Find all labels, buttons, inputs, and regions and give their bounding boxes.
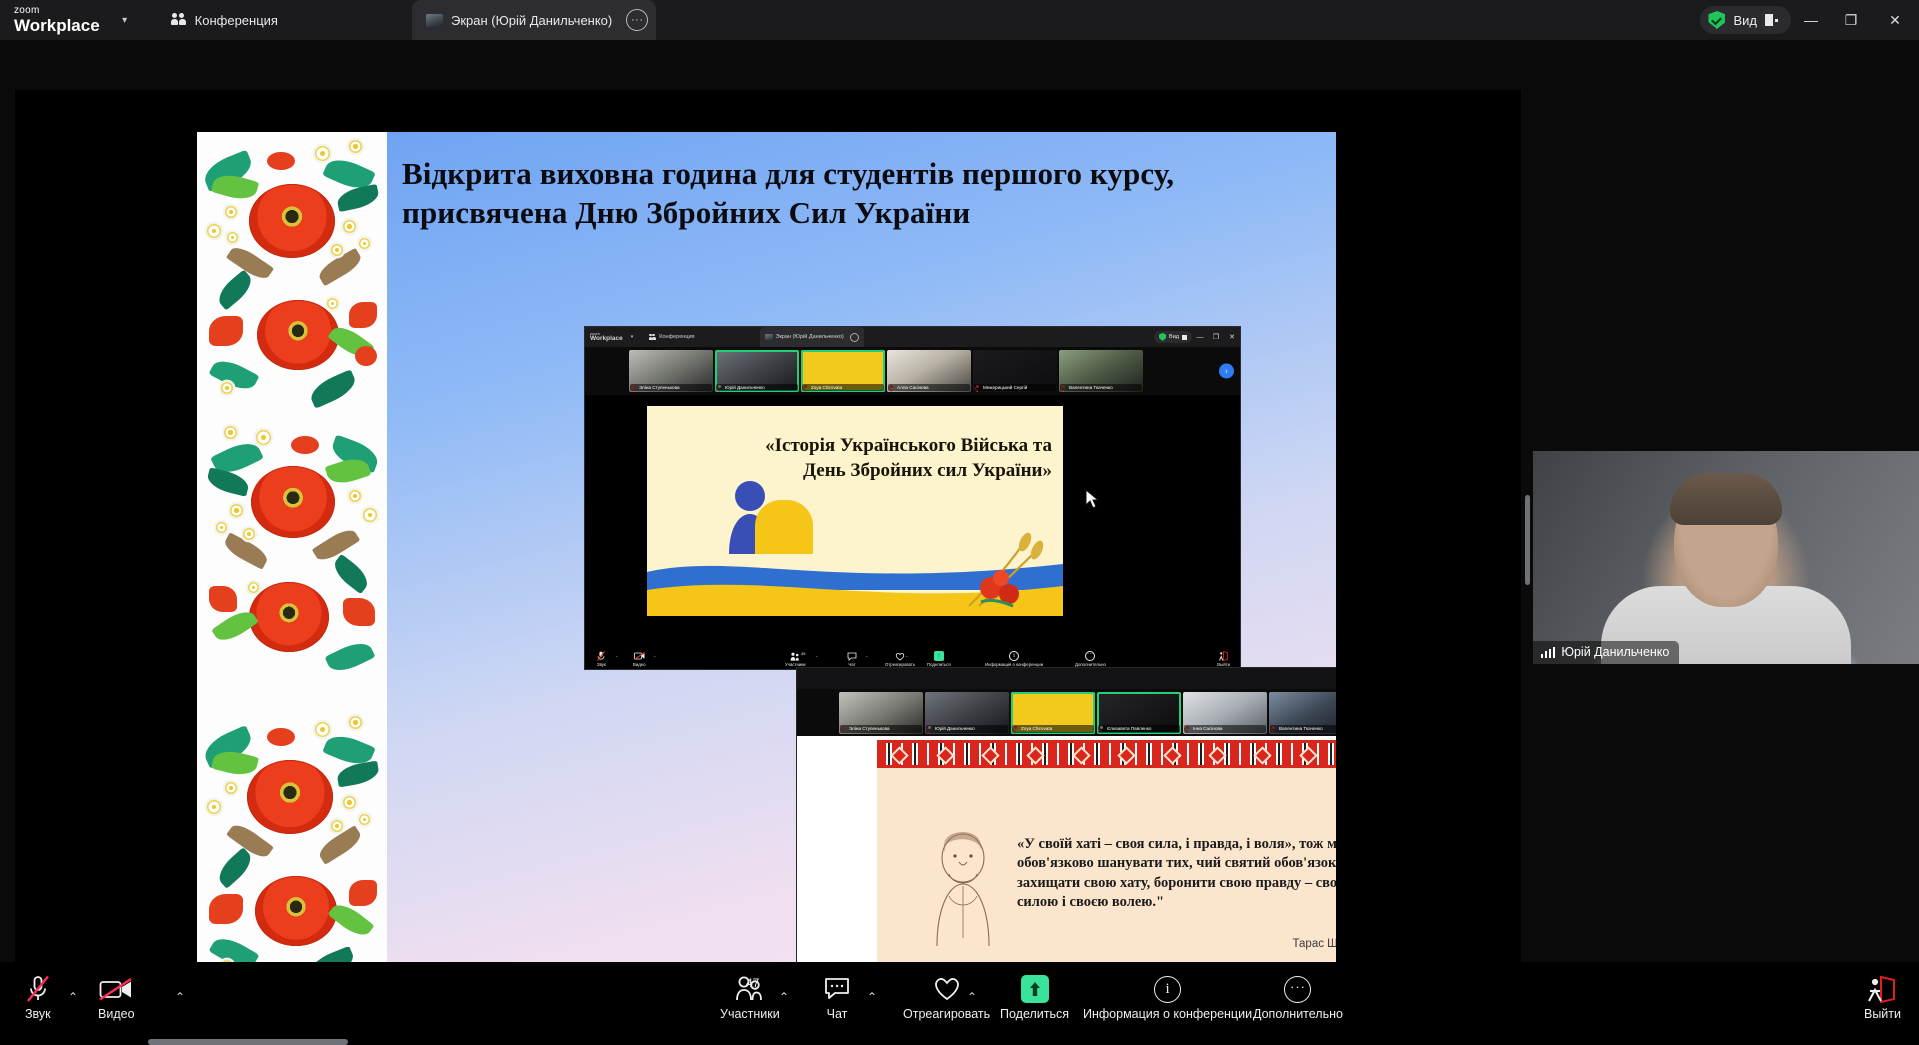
nested1-react-button[interactable]: Отреагировать: [885, 651, 915, 669]
participant-tile[interactable]: Юрій Данильченко: [715, 350, 799, 392]
nested1-audio-caret-icon[interactable]: ⌃: [615, 655, 618, 660]
crowd-silhouette: [755, 500, 813, 554]
chat-bubble-icon: [823, 974, 851, 1004]
share-screen-icon: ↑: [934, 651, 944, 661]
nested1-tab-overflow-icon[interactable]: [850, 333, 859, 342]
nested1-restore-button[interactable]: ❐: [1208, 327, 1224, 347]
shared-slide: Відкрита виховна година для студентів пе…: [197, 132, 1336, 1032]
tab-conference[interactable]: Конференция: [156, 0, 292, 40]
nested1-participants-count: 45: [801, 651, 805, 656]
chevron-down-icon[interactable]: ▾: [112, 7, 138, 33]
react-button[interactable]: Отреагировать: [903, 974, 990, 1021]
video-caret-icon[interactable]: ⌃: [175, 990, 185, 1004]
info-icon: i: [1009, 651, 1019, 661]
app-title-bar: zoom Workplace ▾ Конференция Экран (Юрій…: [0, 0, 1919, 40]
info-icon: i: [1154, 974, 1181, 1004]
participant-name: Юрій Данильченко: [716, 384, 798, 392]
nested1-meeting-info-label: Информация о конференции: [985, 663, 1043, 667]
participant-name: Алла Сасінова: [888, 384, 970, 392]
nested1-chat-caret-icon[interactable]: ⌃: [865, 655, 868, 660]
participant-name: Юрій Данильченко: [926, 725, 1008, 733]
nested1-view-button[interactable]: Вид: [1154, 331, 1192, 343]
nested1-view-label: Вид: [1169, 334, 1179, 340]
nested1-leave-label: Выйти: [1217, 663, 1230, 667]
taras-shevchenko-portrait: [919, 828, 1005, 948]
layout-icon: [1182, 335, 1187, 340]
nested1-tab-conference-label: Конференция: [659, 334, 694, 340]
nested1-share-button[interactable]: ↑ Поделиться: [927, 651, 951, 669]
nested1-video-button[interactable]: Видео: [633, 651, 646, 669]
poppies-and-wheat: [961, 532, 1057, 610]
heart-icon: [895, 651, 905, 661]
audio-caret-icon[interactable]: ⌃: [68, 990, 78, 1004]
participant-tile[interactable]: Юрій Данильченко: [925, 692, 1009, 734]
people-icon: [790, 651, 800, 661]
hair: [1670, 473, 1782, 525]
react-caret-icon[interactable]: ⌃: [967, 990, 977, 1004]
tab-conference-label: Конференция: [195, 13, 278, 28]
nested1-participant-filmstrip[interactable]: Эліна Ступенькова Юрій Данильченко Zoya …: [585, 347, 1240, 395]
participant-name: Эліна Ступенькова: [840, 725, 922, 733]
mouse-cursor: [1085, 489, 1099, 509]
nested1-video-label: Видео: [633, 663, 646, 667]
participant-tile[interactable]: Межерицький Сергій: [973, 350, 1057, 392]
nested1-audio-label: Звук: [597, 663, 606, 667]
nested1-minimize-button[interactable]: —: [1192, 327, 1208, 347]
more-dots-icon: ···: [1085, 651, 1095, 661]
shield-check-icon: [1708, 11, 1725, 29]
nested1-tab-screen-label: Экран (Юрій Данильченко): [776, 334, 844, 340]
nested1-react-caret-icon[interactable]: ⌃: [905, 655, 908, 660]
nested1-shared-content: «Історія Українського Війська та День Зб…: [585, 395, 1240, 647]
self-view-video-feed: [1533, 451, 1919, 664]
nested1-audio-button[interactable]: Звук: [597, 651, 606, 669]
logo-small-text: zoom: [14, 6, 100, 16]
participants-label: Участники: [720, 1007, 780, 1021]
nested1-meeting-toolbar[interactable]: Звук ⌃ Видео ⌃ Участники: [585, 647, 1240, 669]
meeting-stage: Відкрита виховна година для студентів пе…: [0, 40, 1919, 962]
leave-label: Выйти: [1864, 1007, 1901, 1021]
nested1-window-controls: Вид — ❐ ✕: [1154, 327, 1240, 347]
nested1-video-caret-icon[interactable]: ⌃: [653, 655, 656, 660]
restore-button[interactable]: ❐: [1831, 0, 1871, 40]
floral-motif: [197, 132, 387, 418]
audio-label: Звук: [25, 1007, 51, 1021]
video-button[interactable]: Видео: [98, 974, 135, 1021]
chat-label: Чат: [827, 1007, 848, 1021]
petrykivka-floral-border: [197, 132, 387, 1032]
more-dots-icon: ···: [1284, 974, 1311, 1004]
more-button[interactable]: ··· Дополнительно: [1253, 974, 1343, 1021]
minimize-button[interactable]: —: [1791, 0, 1831, 40]
nested1-participants-label: Участники: [785, 663, 806, 667]
chat-caret-icon[interactable]: ⌃: [867, 990, 877, 1004]
participant-name: Інна Сасінова: [1184, 725, 1266, 733]
tab-screen-share[interactable]: Экран (Юрій Данильченко) ···: [412, 0, 656, 40]
nested1-chat-button[interactable]: Чат: [847, 651, 857, 669]
participant-name: Эліна Ступенькова: [630, 384, 712, 392]
participants-caret-icon[interactable]: ⌃: [779, 990, 789, 1004]
participant-tile[interactable]: Zoya Chirovata: [801, 350, 885, 392]
participant-tile[interactable]: Валентина Ткаченко: [1059, 350, 1143, 392]
participant-name: Єлизавета Павленко: [1098, 725, 1180, 733]
meeting-controls-toolbar[interactable]: Звук ⌃ Видео ⌃ Участники 47 ⌃: [0, 962, 1919, 1045]
people-icon: [170, 13, 187, 27]
participants-button[interactable]: Участники 47: [720, 974, 780, 1021]
participant-tile[interactable]: Zoya Chirovata: [1011, 692, 1095, 734]
nested1-more-label: Дополнительно: [1075, 663, 1106, 667]
nested1-more-button[interactable]: ··· Дополнительно: [1075, 651, 1106, 669]
audio-bars-icon: [1541, 647, 1555, 658]
filmstrip-next-icon[interactable]: ›: [1219, 364, 1234, 379]
nested1-participants-caret-icon[interactable]: ⌃: [815, 655, 818, 660]
meeting-info-label: Информация о конференции: [1083, 1007, 1252, 1021]
nested1-tab-conference[interactable]: Конференция: [643, 327, 699, 347]
nested1-tab-screen[interactable]: Экран (Юрій Данильченко): [760, 327, 864, 347]
participant-tile[interactable]: Эліна Ступенькова: [629, 350, 713, 392]
nested1-share-label: Поделиться: [927, 663, 951, 667]
tab-screen-share-label: Экран (Юрій Данильченко): [451, 13, 612, 28]
video-label: Видео: [98, 1007, 135, 1021]
chat-bubble-icon: [847, 651, 857, 661]
chat-button[interactable]: Чат: [823, 974, 851, 1021]
react-label: Отреагировать: [903, 1007, 990, 1021]
participant-name: Zoya Chirovata: [802, 384, 884, 392]
nested1-inner-slide: «Історія Українського Війська та День Зб…: [647, 406, 1063, 616]
nested1-logo: zoom Workplace: [590, 332, 623, 343]
floral-motif: [197, 418, 387, 704]
tab-overflow-icon[interactable]: ···: [626, 9, 648, 31]
nested1-react-label: Отреагировать: [885, 663, 915, 667]
floral-motif: [197, 704, 387, 990]
more-label: Дополнительно: [1253, 1007, 1343, 1021]
shared-content-scrollbar[interactable]: [1525, 495, 1530, 585]
participants-count: 47: [746, 976, 759, 990]
share-button[interactable]: Поделиться: [1000, 974, 1069, 1021]
nested1-title-bar: zoom Workplace ▾ Конференция Экран (Юрій…: [585, 327, 1240, 347]
mic-muted-icon: [597, 651, 605, 661]
participant-tile[interactable]: Єлизавета Павленко: [1097, 692, 1181, 734]
self-view-name-badge: Юрій Данильченко: [1533, 641, 1679, 664]
close-button[interactable]: ✕: [1871, 0, 1919, 40]
participant-tile[interactable]: Эліна Ступенькова: [839, 692, 923, 734]
horizontal-scrollbar[interactable]: [148, 1039, 348, 1045]
diamond-row-top: [877, 744, 1336, 766]
nested1-logo-big: Workplace: [590, 336, 623, 343]
mic-muted-icon: [26, 974, 50, 1004]
nested-zoom-window-1[interactable]: zoom Workplace ▾ Конференция Экран (Юрій…: [585, 327, 1240, 669]
self-view-name: Юрій Данильченко: [1561, 645, 1669, 659]
nested1-close-button[interactable]: ✕: [1224, 327, 1240, 347]
logo-big-text: Workplace: [14, 17, 100, 34]
nested2-title-bar: — ❐ ✕: [797, 668, 1336, 689]
participant-tile[interactable]: Алла Сасінова: [887, 350, 971, 392]
participant-name: Межерицький Сергій: [974, 384, 1056, 392]
nested1-chat-label: Чат: [848, 663, 855, 667]
leave-button[interactable]: Выйти: [1864, 974, 1901, 1021]
share-screen-icon: [1021, 974, 1049, 1004]
slide-title: Відкрита виховна година для студентів пе…: [402, 154, 1272, 233]
zoom-workplace-logo: zoom Workplace: [14, 6, 100, 34]
quote-text: «У своїй хаті – своя сила, і правда, і в…: [1017, 835, 1336, 913]
video-muted-icon: [634, 651, 645, 661]
screen-thumb-icon: [426, 14, 443, 27]
title-bar-right-controls: Вид — ❐ ✕: [1700, 0, 1919, 40]
self-view-video-tile[interactable]: Юрій Данильченко: [1533, 451, 1919, 664]
participant-name: Zoya Chirovata: [1012, 725, 1094, 733]
view-button-label: Вид: [1733, 13, 1757, 28]
view-button[interactable]: Вид: [1700, 6, 1791, 34]
nested1-leave-button[interactable]: Выйти: [1217, 651, 1230, 669]
layout-icon: [1765, 14, 1779, 26]
participant-name: Валентина Ткаченко: [1270, 725, 1336, 733]
leave-door-icon: [1219, 651, 1228, 661]
audio-button[interactable]: Звук: [25, 974, 51, 1021]
participant-name: Валентина Ткаченко: [1060, 384, 1142, 392]
nested1-meeting-info-button[interactable]: i Информация о конференции: [985, 651, 1043, 669]
share-label: Поделиться: [1000, 1007, 1069, 1021]
people-icon: [648, 334, 656, 341]
heart-icon: [932, 974, 962, 1004]
participant-tile[interactable]: Валентина Ткаченко: [1269, 692, 1336, 734]
shield-check-icon: [1159, 333, 1166, 341]
nested1-chevron-down-icon[interactable]: ▾: [631, 334, 634, 340]
screen-thumb-icon: [765, 334, 773, 340]
video-muted-icon: [99, 974, 133, 1004]
meeting-info-button[interactable]: i Информация о конференции: [1083, 974, 1252, 1021]
leave-door-icon: [1867, 974, 1897, 1004]
nested2-participant-filmstrip[interactable]: Эліна Ступенькова Юрій Данильченко Zoya …: [797, 689, 1336, 736]
quote-author: Тарас Шевченко: [1293, 938, 1336, 950]
shared-screen-frame[interactable]: Відкрита виховна година для студентів пе…: [15, 90, 1521, 975]
participant-tile[interactable]: Інна Сасінова: [1183, 692, 1267, 734]
inner-slide-title: «Історія Українського Війська та День Зб…: [742, 434, 1052, 483]
